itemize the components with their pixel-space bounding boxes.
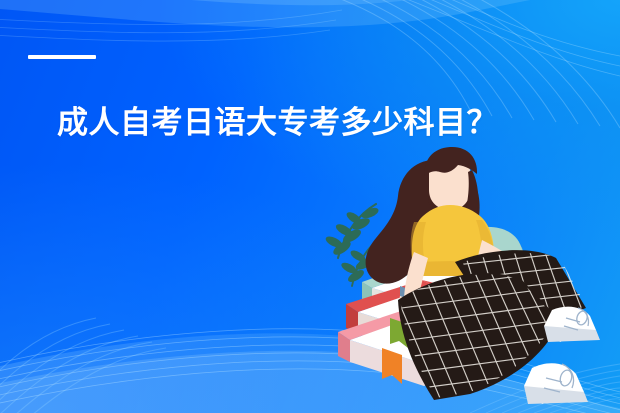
banner: 成人自考日语大专考多少科目？: [0, 0, 620, 413]
shoe-upper-white: [544, 307, 600, 342]
shoe-lower-white: [524, 363, 588, 404]
illustration-woman-sitting-on-books: [0, 0, 620, 413]
